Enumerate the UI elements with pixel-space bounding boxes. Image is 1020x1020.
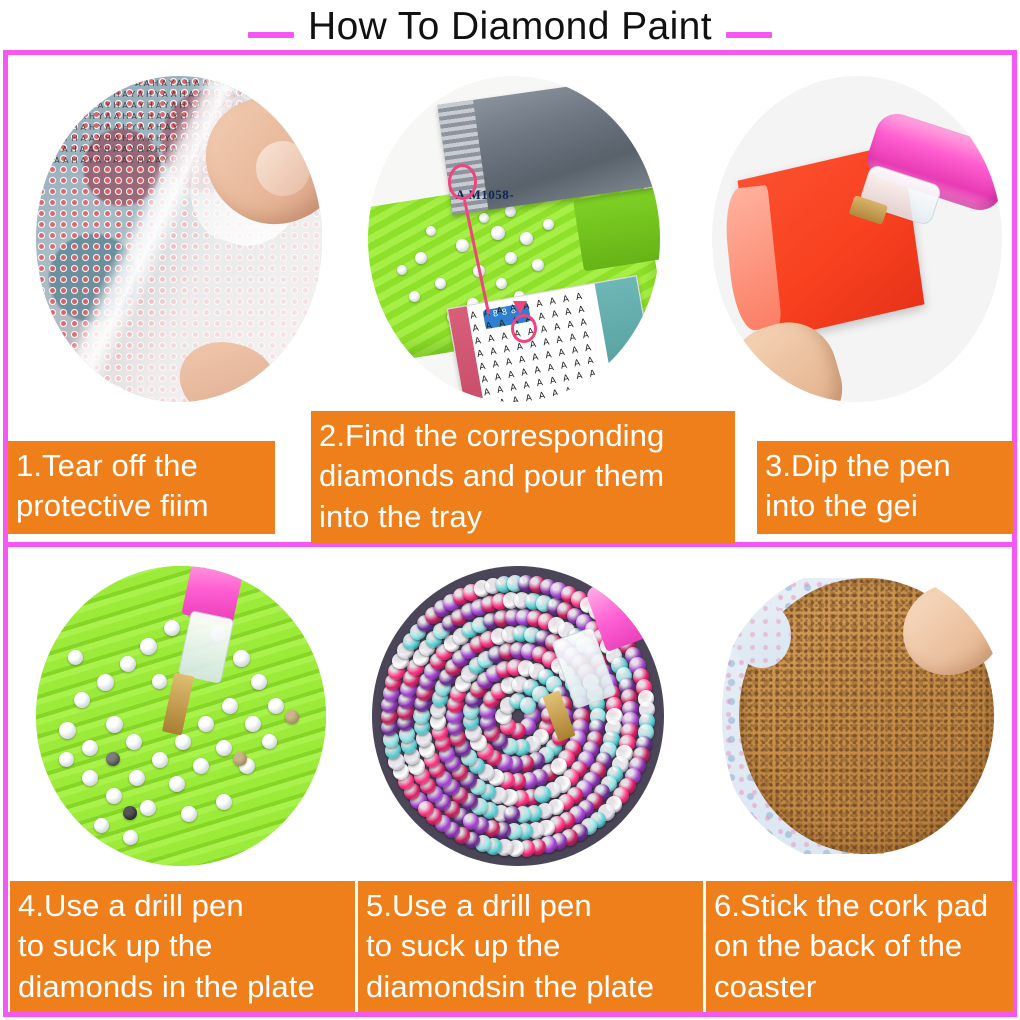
- title-rule-right: [726, 32, 772, 38]
- title-rule-left: [248, 32, 294, 38]
- step-5-photo: [372, 566, 664, 866]
- step-4-photo: [36, 566, 326, 866]
- step-2-photo: 888 AAAAAAAAAAAAAAAAAAAAAAAAAAAAAAAAAAAA…: [368, 76, 660, 402]
- chart-symbol-letters: AAAAAAAAAAAAAAAAAAAAAAAAAAAAAAAAAAAAAAAA…: [469, 288, 617, 402]
- step-1-photo: AYHAYAHAYAHYAAHAYAHAAYHAAYHAHYAAHYAAHAYH…: [36, 76, 322, 402]
- step-2-caption: 2.Find the corresponding diamonds and po…: [311, 411, 735, 544]
- step-6-caption: 6.Stick the cork pad on the back of the …: [706, 881, 1013, 1012]
- coaster-notch: [733, 602, 791, 668]
- page-header: How To Diamond Paint: [0, 0, 1020, 52]
- step-1-caption: 1.Tear off the protective fiim: [8, 441, 275, 534]
- step-6-photo: [716, 566, 1006, 866]
- step-3-caption: 3.Dip the pen into the gei: [757, 441, 1013, 534]
- step-3-photo: [712, 76, 1002, 402]
- step-5-caption: 5.Use a drill pen to suck up the diamond…: [358, 881, 703, 1012]
- match-arrow-head-icon: [513, 301, 527, 314]
- page-title: How To Diamond Paint: [308, 7, 712, 46]
- step-4-caption: 4.Use a drill pen to suck up the diamond…: [10, 881, 355, 1012]
